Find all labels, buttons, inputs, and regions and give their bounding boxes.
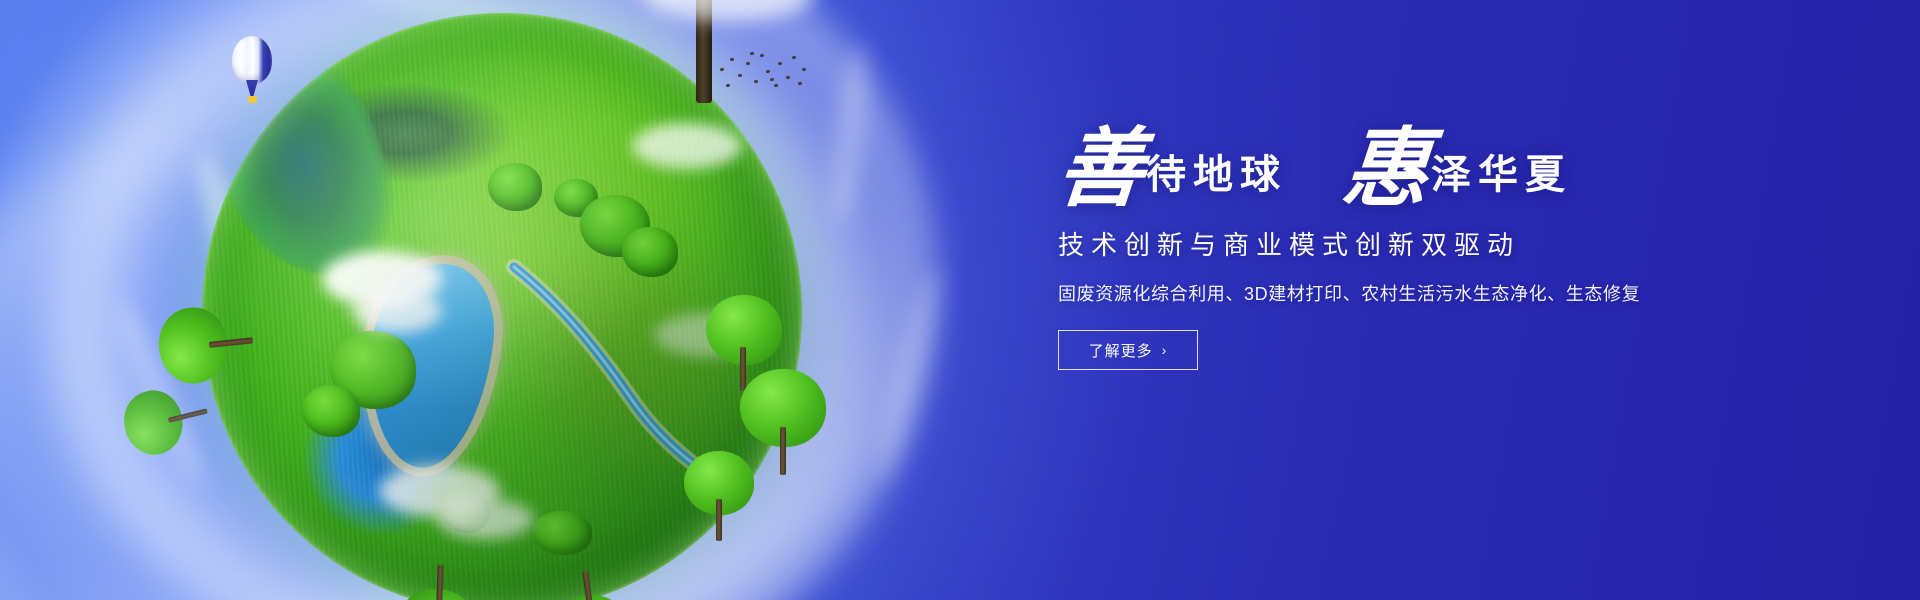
rim-tree [396, 560, 479, 600]
hero-copy: 善 待地球 惠 泽华夏 技术创新与商业模式创新双驱动 固废资源化综合利用、3D建… [1058, 130, 1778, 370]
headline-rest-2: 泽华夏 [1431, 155, 1572, 209]
hero-subtitle: 技术创新与商业模式创新双驱动 [1058, 225, 1778, 262]
tree-mist [644, 0, 814, 21]
rim-tree [684, 451, 754, 545]
balloon-basket [248, 96, 257, 103]
hero-banner: 善 待地球 惠 泽华夏 技术创新与商业模式创新双驱动 固废资源化综合利用、3D建… [0, 0, 1920, 600]
chevron-right-icon: › [1162, 342, 1168, 358]
headline-rest-1: 待地球 [1146, 155, 1287, 209]
bird-flock [716, 50, 806, 92]
headline-big-char-1: 善 [1055, 130, 1148, 209]
page-title: 善 待地球 惠 泽华夏 [1058, 130, 1778, 209]
learn-more-button[interactable]: 了解更多 › [1058, 330, 1198, 370]
learn-more-label: 了解更多 [1089, 340, 1153, 361]
hot-air-balloon [232, 36, 272, 114]
balloon-envelope [232, 36, 272, 84]
headline-big-char-2: 惠 [1340, 130, 1433, 209]
hero-description: 固废资源化综合利用、3D建材打印、农村生活污水生态净化、生态修复 [1058, 280, 1778, 306]
rim-tree [155, 301, 260, 387]
